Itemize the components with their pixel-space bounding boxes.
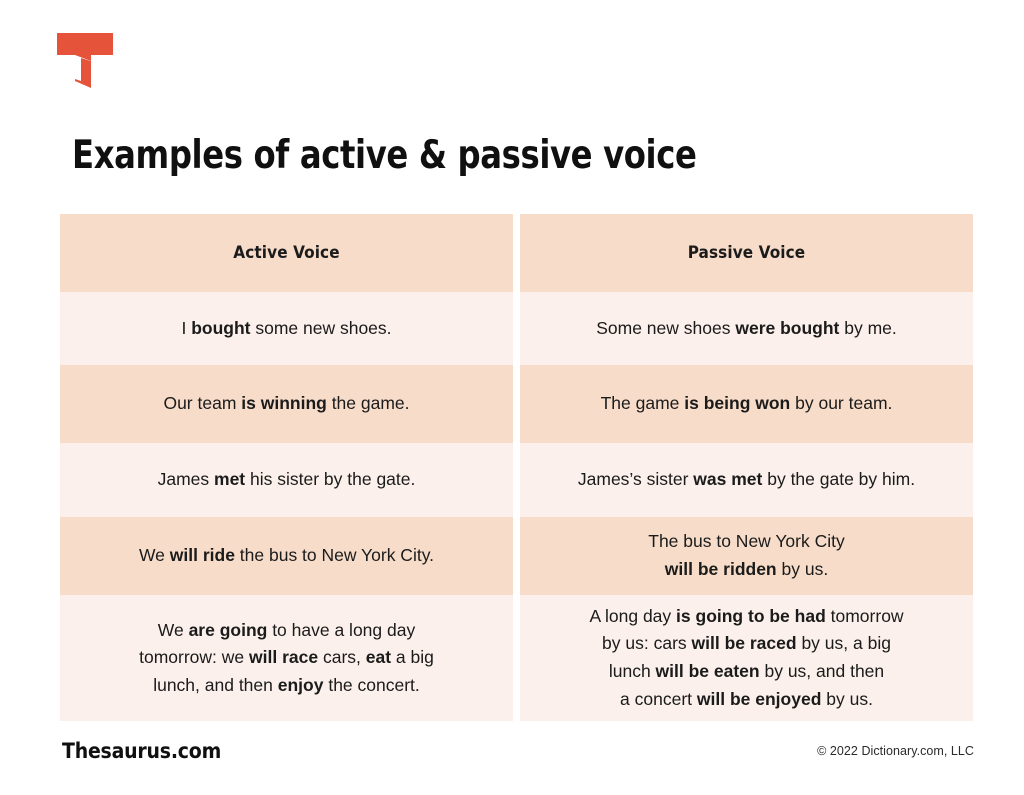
passive-voice-cell: A long day is going to be had tomorrowby… bbox=[520, 595, 973, 721]
active-voice-cell: I bought some new shoes. bbox=[60, 292, 513, 365]
thesaurus-logo bbox=[57, 33, 113, 88]
active-voice-cell: We will ride the bus to New York City. bbox=[60, 517, 513, 595]
passive-voice-cell: The bus to New York Citywill be ridden b… bbox=[520, 517, 973, 595]
column-header-active-voice: Active Voice bbox=[60, 214, 513, 292]
column-header-passive-voice-label: Passive Voice bbox=[688, 240, 806, 267]
passive-voice-text: Some new shoes were bought by me. bbox=[596, 315, 897, 343]
footer-brand-name: Thesaurus.com bbox=[62, 739, 221, 763]
table-row: I bought some new shoes. Some new shoes … bbox=[60, 292, 973, 365]
active-voice-text: We will ride the bus to New York City. bbox=[139, 542, 434, 570]
table-row: Our team is winning the game. The game i… bbox=[60, 365, 973, 443]
passive-voice-text: James’s sister was met by the gate by hi… bbox=[578, 466, 915, 494]
table-header-row: Active Voice Passive Voice bbox=[60, 214, 973, 292]
table-row: We are going to have a long daytomorrow:… bbox=[60, 595, 973, 721]
passive-voice-cell: James’s sister was met by the gate by hi… bbox=[520, 443, 973, 517]
active-voice-text: We are going to have a long daytomorrow:… bbox=[139, 617, 434, 700]
column-header-passive-voice: Passive Voice bbox=[520, 214, 973, 292]
column-header-active-voice-label: Active Voice bbox=[233, 240, 339, 267]
passive-voice-cell: The game is being won by our team. bbox=[520, 365, 973, 443]
active-voice-text: Our team is winning the game. bbox=[163, 390, 409, 418]
active-voice-cell: We are going to have a long daytomorrow:… bbox=[60, 595, 513, 721]
passive-voice-text: A long day is going to be had tomorrowby… bbox=[589, 603, 903, 714]
active-voice-text: I bought some new shoes. bbox=[181, 315, 391, 343]
footer-copyright: © 2022 Dictionary.com, LLC bbox=[817, 744, 974, 758]
active-voice-cell: Our team is winning the game. bbox=[60, 365, 513, 443]
active-voice-cell: James met his sister by the gate. bbox=[60, 443, 513, 517]
active-passive-voice-table: Active Voice Passive Voice I bought some… bbox=[60, 214, 973, 721]
page-title: Examples of active & passive voice bbox=[72, 133, 697, 178]
table-row: James met his sister by the gate. James’… bbox=[60, 443, 973, 517]
passive-voice-text: The bus to New York Citywill be ridden b… bbox=[648, 528, 844, 583]
passive-voice-text: The game is being won by our team. bbox=[601, 390, 893, 418]
active-voice-text: James met his sister by the gate. bbox=[158, 466, 416, 494]
table-row: We will ride the bus to New York City. T… bbox=[60, 517, 973, 595]
passive-voice-cell: Some new shoes were bought by me. bbox=[520, 292, 973, 365]
thesaurus-t-logo-icon bbox=[57, 33, 113, 88]
